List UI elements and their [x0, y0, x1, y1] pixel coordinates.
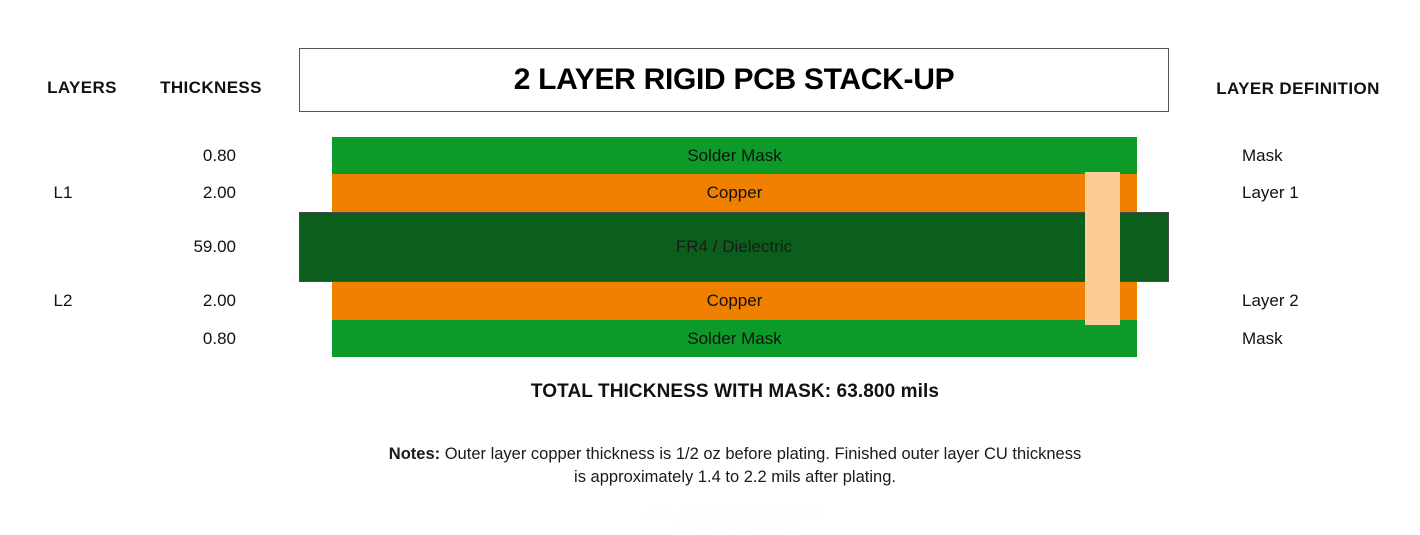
total-thickness-label: TOTAL THICKNESS WITH MASK: 63.800 mils [531, 381, 939, 403]
notes-label: Notes: [389, 445, 440, 463]
thickness-value-layer-5: 0.80 [203, 329, 236, 349]
layer-id-l1: L1 [54, 183, 73, 203]
thickness-value-layer-4: 2.00 [203, 291, 236, 311]
stack-layer-material-label: Solder Mask [687, 146, 781, 166]
stack-layer-material-label: FR4 / Dielectric [676, 237, 792, 257]
plated-through-via [1085, 172, 1120, 325]
thickness-value-layer-2: 2.00 [203, 183, 236, 203]
stack-layer-2: Copper [332, 174, 1137, 212]
watermark-text: stack-up generated by pcb tool all dimen… [565, 505, 905, 535]
notes-block: Notes: Outer layer copper thickness is 1… [295, 443, 1175, 489]
notes-line-2: is approximately 1.4 to 2.2 mils after p… [574, 468, 896, 486]
stack-layer-5: Solder Mask [332, 320, 1137, 357]
stack-layer-material-label: Solder Mask [687, 329, 781, 349]
thickness-value-layer-3: 59.00 [193, 237, 236, 257]
layer-definition-2: Layer 1 [1242, 183, 1299, 203]
stack-layer-4: Copper [332, 282, 1137, 320]
watermark-line-2: all dimensions in mils [565, 520, 905, 535]
layer-definition-5: Mask [1242, 329, 1283, 349]
stack-layer-material-label: Copper [707, 291, 763, 311]
thickness-value-layer-1: 0.80 [203, 146, 236, 166]
stack-layer-1: Solder Mask [332, 137, 1137, 174]
stack-layer-material-label: Copper [707, 183, 763, 203]
layer-definition-1: Mask [1242, 146, 1283, 166]
watermark-line-1: stack-up generated by pcb tool [565, 505, 905, 520]
layer-definition-4: Layer 2 [1242, 291, 1299, 311]
layer-id-l2: L2 [54, 291, 73, 311]
notes-line-1: Outer layer copper thickness is 1/2 oz b… [440, 445, 1081, 463]
stack-layer-3: FR4 / Dielectric [299, 212, 1169, 282]
